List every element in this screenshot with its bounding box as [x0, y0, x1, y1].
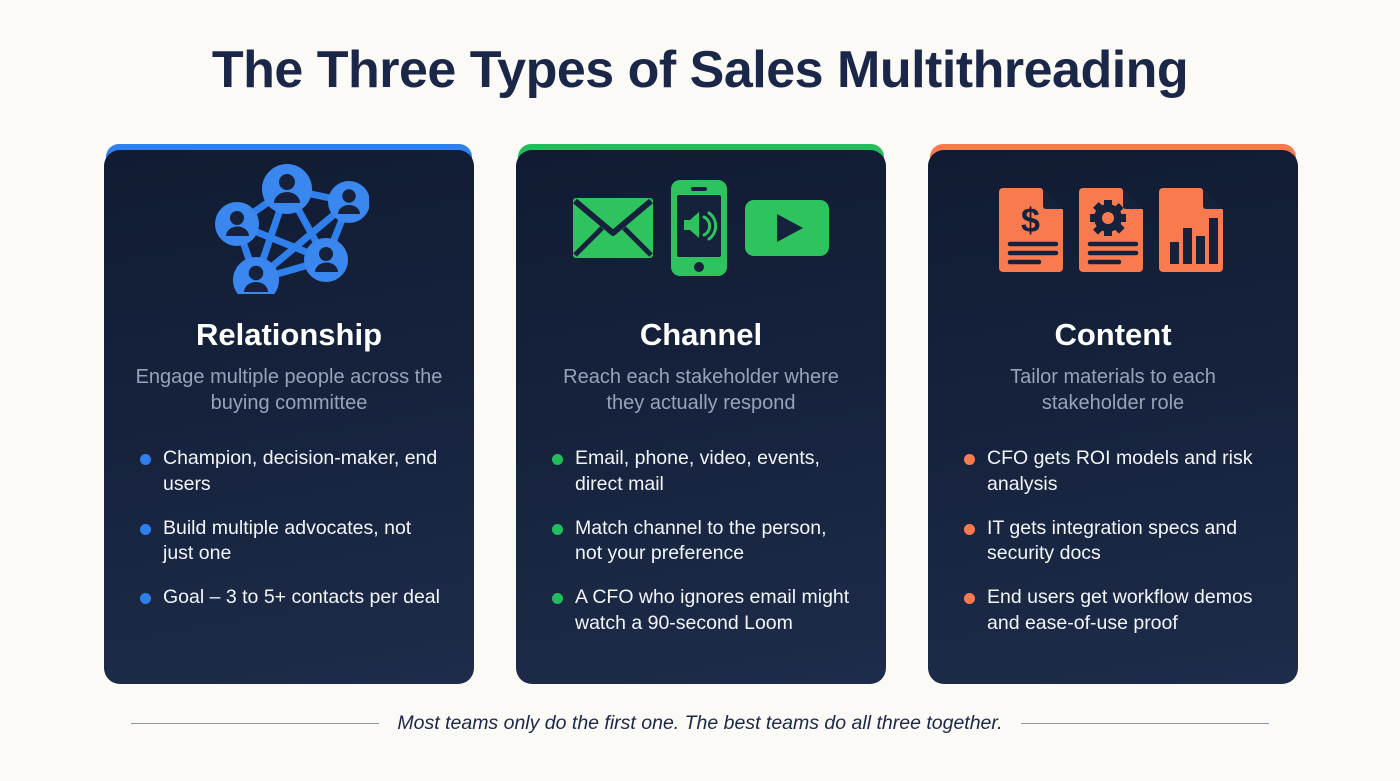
card-body-content: $	[928, 150, 1298, 684]
document-gear-icon	[1079, 184, 1147, 277]
bullet-dot-icon	[140, 593, 151, 604]
video-play-icon	[744, 199, 830, 262]
bullet-dot-icon	[552, 593, 563, 604]
bullet-list-channel: Email, phone, video, events, direct mail…	[542, 446, 860, 636]
card-subtitle-channel: Reach each stakeholder where they actual…	[542, 364, 860, 416]
icon-area-relationship	[130, 150, 448, 310]
bullet-label: Build multiple advocates, not just one	[163, 516, 444, 567]
cards-row: Relationship Engage multiple people acro…	[104, 144, 1298, 684]
bullet-list-content: CFO gets ROI models and risk analysis IT…	[954, 446, 1272, 636]
footer-caption: Most teams only do the first one. The be…	[397, 712, 1002, 735]
list-item: Email, phone, video, events, direct mail	[552, 446, 856, 497]
card-subtitle-content: Tailor materials to each stakeholder rol…	[954, 364, 1272, 416]
list-item: A CFO who ignores email might watch a 90…	[552, 585, 856, 636]
card-heading-channel: Channel	[542, 318, 860, 352]
card-body-relationship: Relationship Engage multiple people acro…	[104, 150, 474, 684]
page-title: The Three Types of Sales Multithreading	[0, 41, 1400, 101]
svg-text:$: $	[1021, 202, 1040, 240]
bullet-label: Goal – 3 to 5+ contacts per deal	[163, 585, 440, 611]
bullet-dot-icon	[964, 454, 975, 465]
bullet-label: IT gets integration specs and security d…	[987, 516, 1268, 567]
bullet-label: Match channel to the person, not your pr…	[575, 516, 856, 567]
list-item: CFO gets ROI models and risk analysis	[964, 446, 1268, 497]
card-body-channel: Channel Reach each stakeholder where the…	[516, 150, 886, 684]
bullet-label: Email, phone, video, events, direct mail	[575, 446, 856, 497]
infographic-page: The Three Types of Sales Multithreading	[0, 0, 1400, 781]
network-of-people-icon	[209, 162, 369, 299]
bullet-label: CFO gets ROI models and risk analysis	[987, 446, 1268, 497]
bullet-dot-icon	[552, 454, 563, 465]
bullet-dot-icon	[552, 524, 563, 535]
card-heading-relationship: Relationship	[130, 318, 448, 352]
card-subtitle-relationship: Engage multiple people across the buying…	[130, 364, 448, 416]
footer-rule-right	[1021, 723, 1269, 724]
icon-area-content: $	[954, 150, 1272, 310]
document-dollar-icon: $	[999, 184, 1067, 277]
list-item: IT gets integration specs and security d…	[964, 516, 1268, 567]
list-item: Match channel to the person, not your pr…	[552, 516, 856, 567]
list-item: Champion, decision-maker, end users	[140, 446, 444, 497]
document-bar-chart-icon	[1159, 184, 1227, 277]
bullet-dot-icon	[964, 524, 975, 535]
bullet-list-relationship: Champion, decision-maker, end users Buil…	[130, 446, 448, 611]
list-item: Build multiple advocates, not just one	[140, 516, 444, 567]
card-channel[interactable]: Channel Reach each stakeholder where the…	[516, 144, 886, 684]
list-item: End users get workflow demos and ease-of…	[964, 585, 1268, 636]
list-item: Goal – 3 to 5+ contacts per deal	[140, 585, 444, 611]
bullet-dot-icon	[964, 593, 975, 604]
card-heading-content: Content	[954, 318, 1272, 352]
bullet-label: End users get workflow demos and ease-of…	[987, 585, 1268, 636]
mobile-phone-sound-icon	[670, 179, 728, 282]
bullet-dot-icon	[140, 454, 151, 465]
bullet-dot-icon	[140, 524, 151, 535]
card-content[interactable]: $	[928, 144, 1298, 684]
card-relationship[interactable]: Relationship Engage multiple people acro…	[104, 144, 474, 684]
envelope-icon	[572, 197, 654, 264]
bullet-label: Champion, decision-maker, end users	[163, 446, 444, 497]
bullet-label: A CFO who ignores email might watch a 90…	[575, 585, 856, 636]
footer-rule-left	[131, 723, 379, 724]
icon-area-channel	[542, 150, 860, 310]
footer: Most teams only do the first one. The be…	[0, 712, 1400, 735]
